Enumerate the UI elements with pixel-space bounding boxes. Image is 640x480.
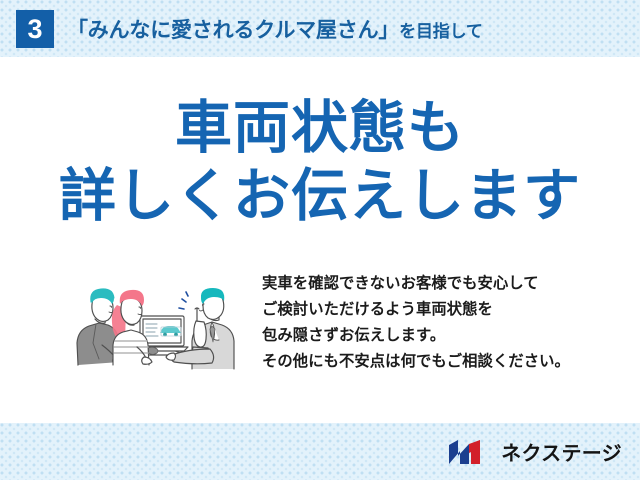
nextage-logo-text: ネクステージ	[501, 437, 622, 466]
advertisement-page: 3 「みんなに愛されるクルマ屋さん」 を目指して 車両状態も 詳しくお伝えします	[0, 0, 640, 480]
body-copy-line-2: ご検討いただけるよう車両状態を	[262, 297, 634, 323]
headline: 車両状態も 詳しくお伝えします	[0, 98, 640, 227]
section-number-badge: 3	[16, 10, 54, 48]
body-copy: 実車を確認できないお客様でも安心して ご検討いただけるよう車両状態を 包み隠さず…	[262, 271, 634, 375]
footer-band: ネクステージ	[0, 423, 640, 480]
body-copy-line-3: 包み隠さずお伝えします。	[262, 323, 634, 349]
body-copy-line-4: その他にも不安点は何でもご相談ください。	[262, 349, 634, 375]
header-band: 3 「みんなに愛されるクルマ屋さん」 を目指して	[0, 0, 640, 57]
header-title-suffix: を目指して	[399, 17, 483, 42]
nextage-n-mark-svg	[448, 439, 494, 465]
lower-content-row: 実車を確認できないお客様でも安心して ご検討いただけるよう車両状態を 包み隠さず…	[0, 269, 640, 399]
main-stage: 車両状態も 詳しくお伝えします	[0, 57, 640, 423]
nextage-logo: ネクステージ	[448, 437, 622, 466]
headline-line-1: 車両状態も	[0, 98, 640, 158]
consultation-illustration-svg	[62, 269, 242, 387]
nextage-n-mark-icon	[448, 439, 494, 465]
header-title-main: 「みんなに愛されるクルマ屋さん」	[67, 14, 399, 44]
header-title: 「みんなに愛されるクルマ屋さん」 を目指して	[67, 14, 483, 44]
consultation-illustration	[62, 269, 242, 387]
body-copy-line-1: 実車を確認できないお客様でも安心して	[262, 271, 634, 297]
headline-line-2: 詳しくお伝えします	[0, 166, 640, 226]
